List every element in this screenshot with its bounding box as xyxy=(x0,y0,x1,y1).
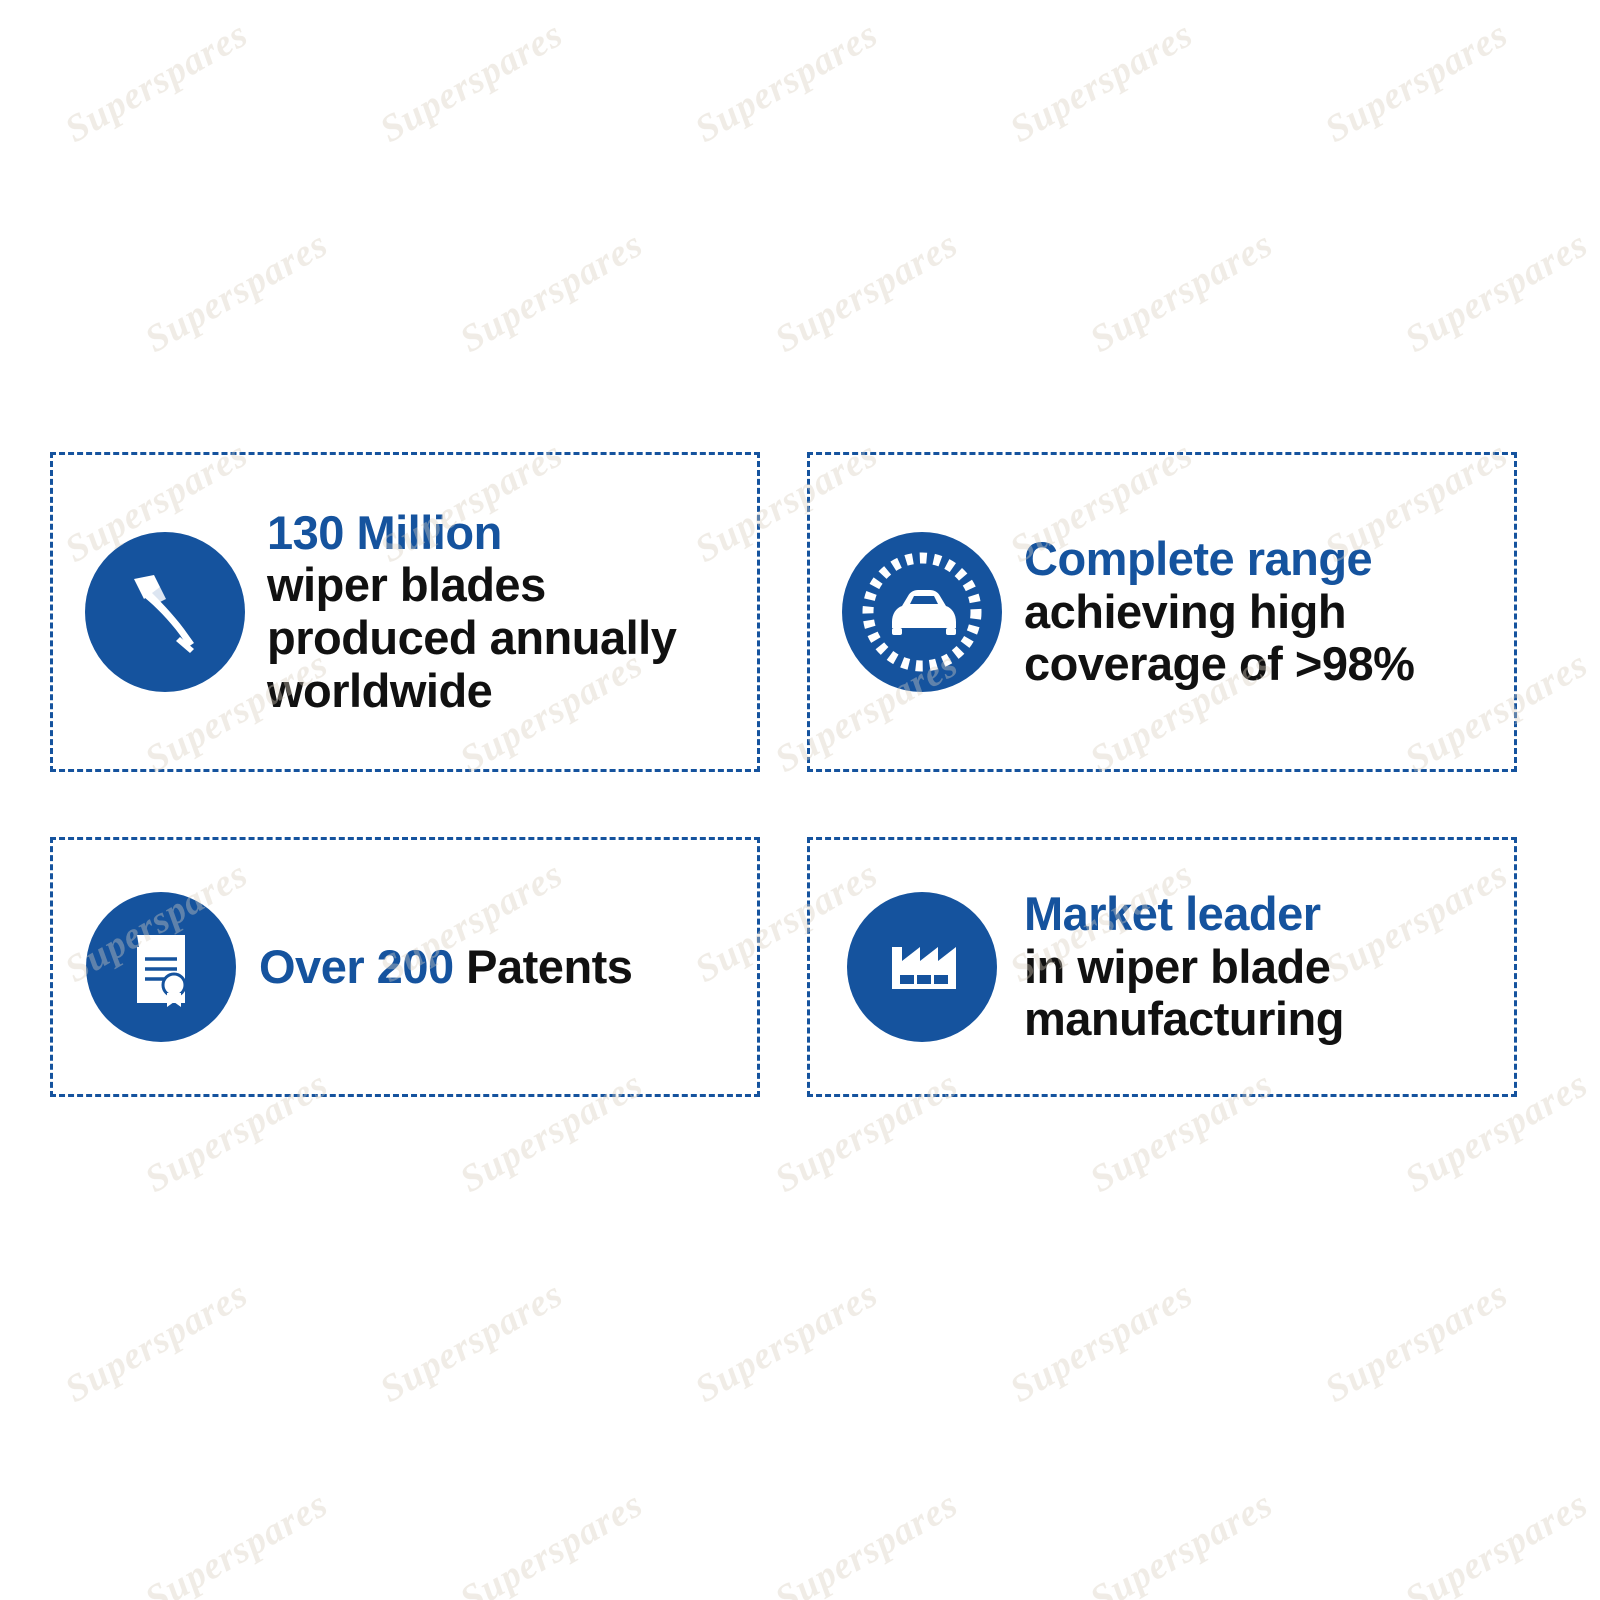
watermark-text: Superspares xyxy=(688,12,886,152)
watermark-text: Superspares xyxy=(453,222,651,362)
watermark-text: Superspares xyxy=(688,1272,886,1412)
card-text-block: 130 Million wiper blades produced annual… xyxy=(255,507,735,718)
watermark-text: Superspares xyxy=(58,1272,256,1412)
card-text-block: Market leader in wiper blade manufacturi… xyxy=(1012,888,1492,1046)
watermark-text: Superspares xyxy=(1318,1272,1516,1412)
card-line: produced annually xyxy=(267,612,735,665)
card-line: wiper blades xyxy=(267,559,735,612)
card-icon-container xyxy=(75,532,255,692)
card-line-highlight: Over 200 xyxy=(259,940,454,993)
wiper-blade-icon xyxy=(85,532,245,692)
watermark-text: Superspares xyxy=(1398,222,1596,362)
card-text-block: Over 200 Patents xyxy=(247,941,735,994)
watermark-text: Superspares xyxy=(1083,222,1281,362)
certificate-document-icon xyxy=(86,892,236,1042)
card-icon-container xyxy=(832,532,1012,692)
watermark-text: Superspares xyxy=(1003,12,1201,152)
watermark-text: Superspares xyxy=(1083,1482,1281,1600)
watermark-text: Superspares xyxy=(453,1482,651,1600)
watermark-text: Superspares xyxy=(1003,1272,1201,1412)
card-line: coverage of >98% xyxy=(1024,638,1492,691)
car-in-circle-icon xyxy=(842,532,1002,692)
card-complete-range-coverage: Complete range achieving high coverage o… xyxy=(807,452,1517,772)
card-text-block: Complete range achieving high coverage o… xyxy=(1012,533,1492,691)
watermark-text: Superspares xyxy=(1398,1482,1596,1600)
card-patents: Over 200 Patents xyxy=(50,837,760,1097)
watermark-text: Superspares xyxy=(768,1482,966,1600)
card-icon-container xyxy=(832,892,1012,1042)
watermark-text: Superspares xyxy=(373,12,571,152)
card-icon-container xyxy=(75,892,247,1042)
card-line: 130 Million xyxy=(267,507,735,560)
watermark-text: Superspares xyxy=(768,222,966,362)
card-line: Complete range xyxy=(1024,533,1492,586)
card-line: Market leader xyxy=(1024,888,1492,941)
card-line: in wiper blade xyxy=(1024,941,1492,994)
card-wiper-blades-produced: 130 Million wiper blades produced annual… xyxy=(50,452,760,772)
card-line-rest: Patents xyxy=(454,940,633,993)
watermark-text: Superspares xyxy=(138,1482,336,1600)
feature-card-grid: 130 Million wiper blades produced annual… xyxy=(50,452,1517,1097)
card-market-leader: Market leader in wiper blade manufacturi… xyxy=(807,837,1517,1097)
card-line: worldwide xyxy=(267,665,735,718)
card-line: manufacturing xyxy=(1024,993,1492,1046)
card-line-mixed: Over 200 Patents xyxy=(259,941,735,994)
watermark-text: Superspares xyxy=(373,1272,571,1412)
watermark-text: Superspares xyxy=(58,12,256,152)
watermark-text: Superspares xyxy=(138,222,336,362)
card-line: achieving high xyxy=(1024,586,1492,639)
watermark-text: Superspares xyxy=(1318,12,1516,152)
factory-icon xyxy=(847,892,997,1042)
